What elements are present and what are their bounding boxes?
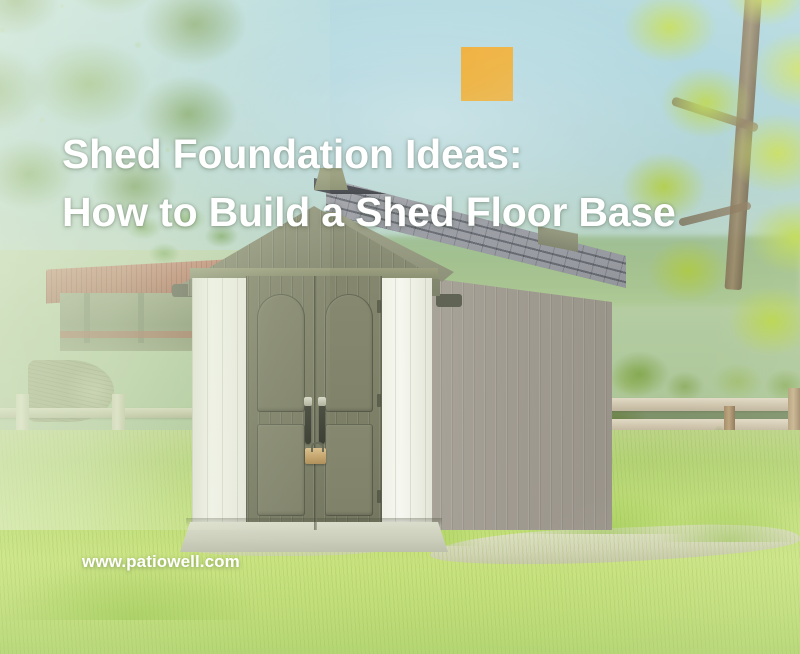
door-panel-lower-left <box>257 424 305 516</box>
headline-line-1: Shed Foundation Ideas: <box>62 124 676 185</box>
orange-accent-block <box>461 47 513 101</box>
door-hinge <box>377 300 381 313</box>
door-handle-left[interactable] <box>305 404 311 444</box>
site-url-watermark: www.patiowell.com <box>82 552 240 572</box>
fence-rail <box>0 408 206 418</box>
headline-line-2: How to Build a Shed Floor Base <box>62 182 676 243</box>
grass-tuft <box>660 498 800 542</box>
shed-right-wall <box>429 278 612 530</box>
shed-panel-right <box>380 278 432 530</box>
shed-double-doors[interactable] <box>246 276 382 530</box>
door-center-seam <box>314 276 317 530</box>
door-panel-lower-right <box>325 424 373 516</box>
door-panel-arch-right <box>325 294 373 412</box>
page-title: Shed Foundation Ideas: How to Build a Sh… <box>62 124 676 242</box>
fence-rail <box>586 398 800 411</box>
shed-panel-left <box>192 278 248 530</box>
padlock-icon[interactable] <box>305 448 326 464</box>
shed-foundation-banner: Shed Foundation Ideas: How to Build a Sh… <box>0 0 800 654</box>
door-hinge <box>377 394 381 407</box>
door-handle-right[interactable] <box>319 404 325 444</box>
door-hinge <box>377 490 381 503</box>
door-panel-arch-left <box>257 294 305 412</box>
